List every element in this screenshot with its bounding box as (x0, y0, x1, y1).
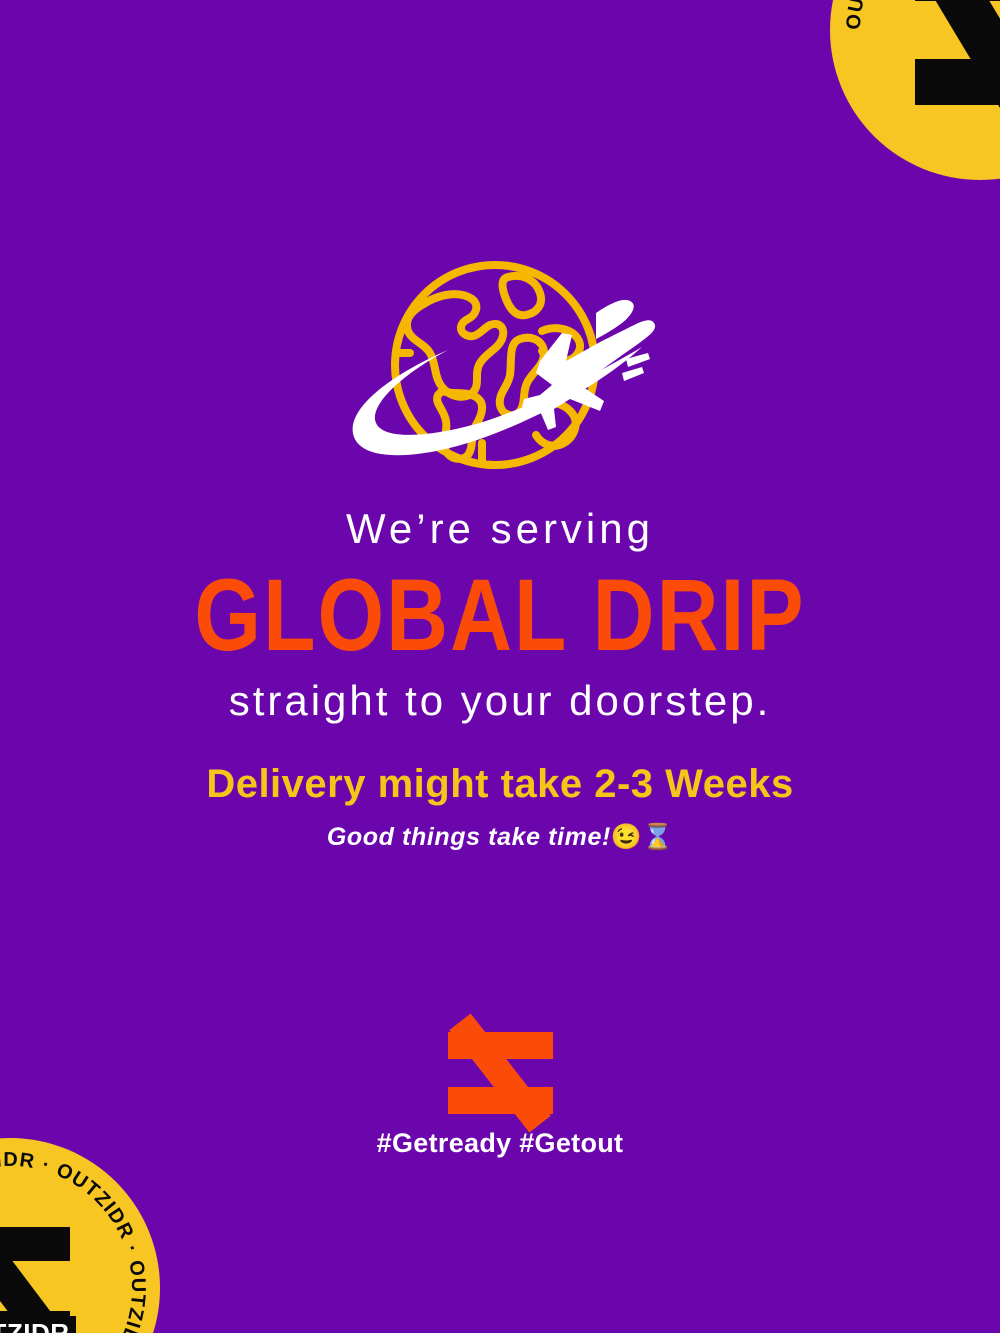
badge-wordmark-text: OUTZIDR (0, 1320, 70, 1333)
outzidr-badge-top-right: OUTZIDR · OUTZIDR · OUTZIDR · OUTZIDR · (830, 0, 1000, 180)
globe-airplane-icon (330, 255, 670, 480)
delivery-headline: Delivery might take 2-3 Weeks (0, 760, 1000, 808)
badge-core-bottom-left: OUTZIDR (0, 1138, 160, 1333)
outzidr-z-logo-footer (448, 1032, 553, 1114)
badge-core-top-right (830, 0, 1000, 180)
promo-poster: OUTZIDR · OUTZIDR · OUTZIDR · OUTZIDR · (0, 0, 1000, 1333)
page-title: GLOBAL DRIP (0, 561, 1000, 669)
outzidr-badge-bottom-left: OUTZIDR · OUTZIDR · OUTZIDR · OUTZIDR · … (0, 1138, 160, 1333)
wink-face-emoji: 😉 (611, 823, 642, 851)
delivery-block: Delivery might take 2-3 Weeks Good thing… (0, 760, 1000, 852)
delivery-subline-text: Good things take time! (327, 823, 611, 851)
outzidr-z-logo-top-right (915, 0, 1000, 105)
footer-hashtags: #Getready #Getout (377, 1128, 624, 1159)
delivery-subline: Good things take time!😉⌛ (0, 822, 1000, 852)
headline-eyebrow: We’re serving (0, 505, 1000, 553)
hourglass-emoji: ⌛ (642, 823, 673, 851)
badge-wordmark-bottom-left: OUTZIDR (0, 1316, 76, 1333)
headline-tail: straight to your doorstep. (0, 677, 1000, 725)
headline-block: We’re serving GLOBAL DRIP straight to yo… (0, 505, 1000, 726)
airplane-icon (522, 300, 655, 430)
